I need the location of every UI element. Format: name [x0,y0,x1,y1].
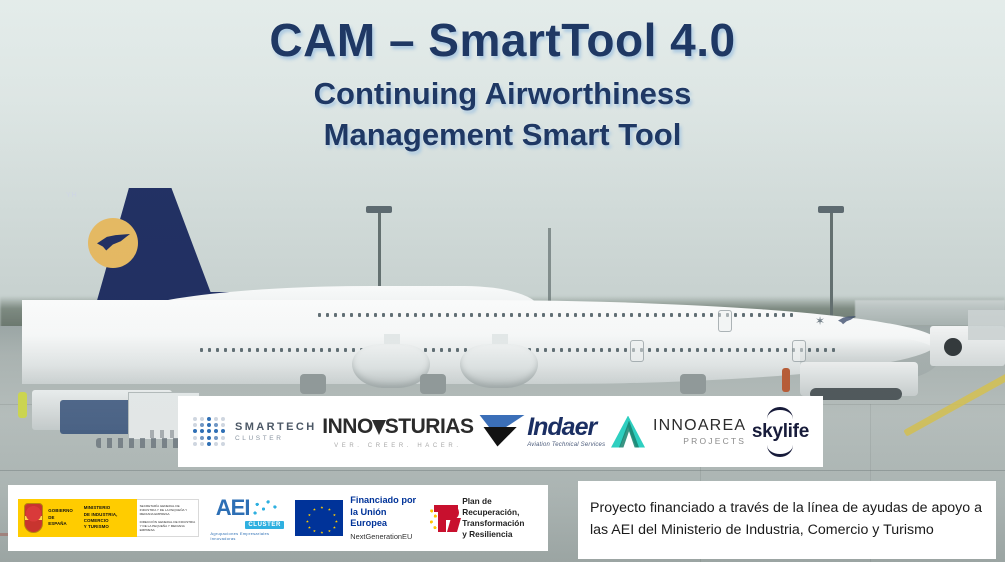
landing-gear [300,374,326,394]
logo-indaer: Indaer Aviation Technical Services [479,415,605,449]
gobierno-line-2: DE ESPAÑA [48,515,73,528]
logo-innoasturias: INNOSTURIAS VER. CREER. HACER. [322,415,473,449]
skylife-arc-bottom-icon [767,445,793,457]
prtr-line-1: Plan de Recuperación, [462,496,538,518]
page-subtitle-line-2: Management Smart Tool [0,115,1005,156]
innoasturias-part-c: STURIAS [385,415,474,438]
funding-note-text: Proyecto financiado a través de la línea… [590,498,984,541]
indaer-arrow-icon [479,415,525,449]
pushback-tug [800,362,918,396]
landing-gear [680,374,706,394]
skylife-wordmark: skylife [752,421,809,443]
aircraft-engine [352,344,430,388]
secretariat-line-1: SECRETARÍA GENERAL DE INDUSTRIA Y DE LA … [140,504,196,517]
prtr-tr-icon [429,502,456,534]
innoasturias-part-b: NNO [328,415,373,438]
logo-union-europea: Financiado por la Unión Europea NextGene… [295,495,418,540]
secretariat-line-2: DIRECCIÓN GENERAL DE INDUSTRIA Y DE LA P… [140,520,196,533]
indaer-wordmark: Indaer [527,415,605,440]
skylife-arc-top-icon [767,407,793,419]
page-subtitle: Continuing Airworthiness Management Smar… [0,74,1005,156]
indaer-tagline: Aviation Technical Services [527,442,605,448]
secretariat-labels: SECRETARÍA GENERAL DE INDUSTRIA Y DE LA … [137,499,200,537]
prtr-line-3: y Resiliencia [462,529,538,540]
light-pole-head [366,206,392,213]
light-pole-head [818,206,844,213]
logo-gobierno-de-espana: GOBIERNO DE ESPAÑA MINISTERIO DE INDUSTR… [18,499,199,537]
title-block: CAM – SmartTool 4.0 Continuing Airworthi… [0,16,1005,156]
aircraft-door [718,310,732,332]
smartech-wordmark: SMARTECH [235,421,317,433]
page-subtitle-line-1: Continuing Airworthiness [0,74,1005,115]
apron-seam [0,470,1005,471]
aei-tagline: Agrupaciones Empresariales Innovadoras [210,531,284,541]
logo-smartech-cluster: SMARTECH CLUSTER [192,417,317,447]
landing-gear [420,374,446,394]
logo-skylife: skylife [752,407,809,457]
prtr-labels: Plan de Recuperación, Transformación y R… [462,496,538,540]
light-pole [830,210,833,322]
funding-note-panel: Proyecto financiado a través de la línea… [578,481,996,559]
eu-flag-icon [295,500,343,536]
ground-crew-worker [18,392,27,418]
eu-nextgeneration-label: NextGenerationEU [350,532,418,541]
aircraft-engine [460,344,538,388]
innoarea-subtitle: PROJECTS [653,436,746,446]
innoasturias-tagline: VER. CREER. HACER. [334,443,461,449]
jet-bridge [968,310,1005,340]
ministerio-line-2: DE INDUSTRIA, COMERCIO [84,512,131,525]
funding-logo-bar: GOBIERNO DE ESPAÑA MINISTERIO DE INDUSTR… [8,485,548,551]
innoasturias-triangle-icon [372,420,386,435]
aircraft-door [792,340,806,362]
gobierno-label: GOBIERNO DE ESPAÑA [48,508,73,527]
innoarea-wordmark: INNOAREA [653,417,746,435]
partner-logo-bar: SMARTECH CLUSTER INNOSTURIAS VER. CREER.… [178,396,823,467]
logo-plan-recuperacion: Plan de Recuperación, Transformación y R… [429,496,538,540]
smartech-dotgrid-icon [192,417,226,447]
gobierno-line-1: GOBIERNO [48,508,73,514]
smartech-subtitle: CLUSTER [235,435,317,442]
logo-innoarea-projects: INNOAREA PROJECTS [611,416,746,448]
presentation-slide: YH ✶ [0,0,1005,562]
page-title: CAM – SmartTool 4.0 [0,16,1005,64]
innoasturias-wordmark: INNOSTURIAS [322,415,473,439]
aircraft-registration: YH [66,192,78,199]
eu-line-2: la Unión Europea [350,507,418,530]
innoarea-triangle-icon [611,416,645,448]
light-pole [548,228,551,310]
spain-coat-of-arms-icon [24,503,43,533]
prtr-line-2: Transformación [462,518,538,529]
aei-cluster-badge: CLUSTER [245,521,284,529]
aircraft-door [630,340,644,362]
logo-aei-cluster: AEI CLUSTER Agrupaciones Empresariales I… [210,495,284,541]
ground-crew-worker [782,368,790,392]
star-alliance-icon: ✶ [815,315,829,329]
ministerio-line-3: Y TURISMO [84,524,131,530]
ministerio-label: MINISTERIO DE INDUSTRIA, COMERCIO Y TURI… [84,505,131,531]
eu-line-1: Financiado por [350,495,418,506]
